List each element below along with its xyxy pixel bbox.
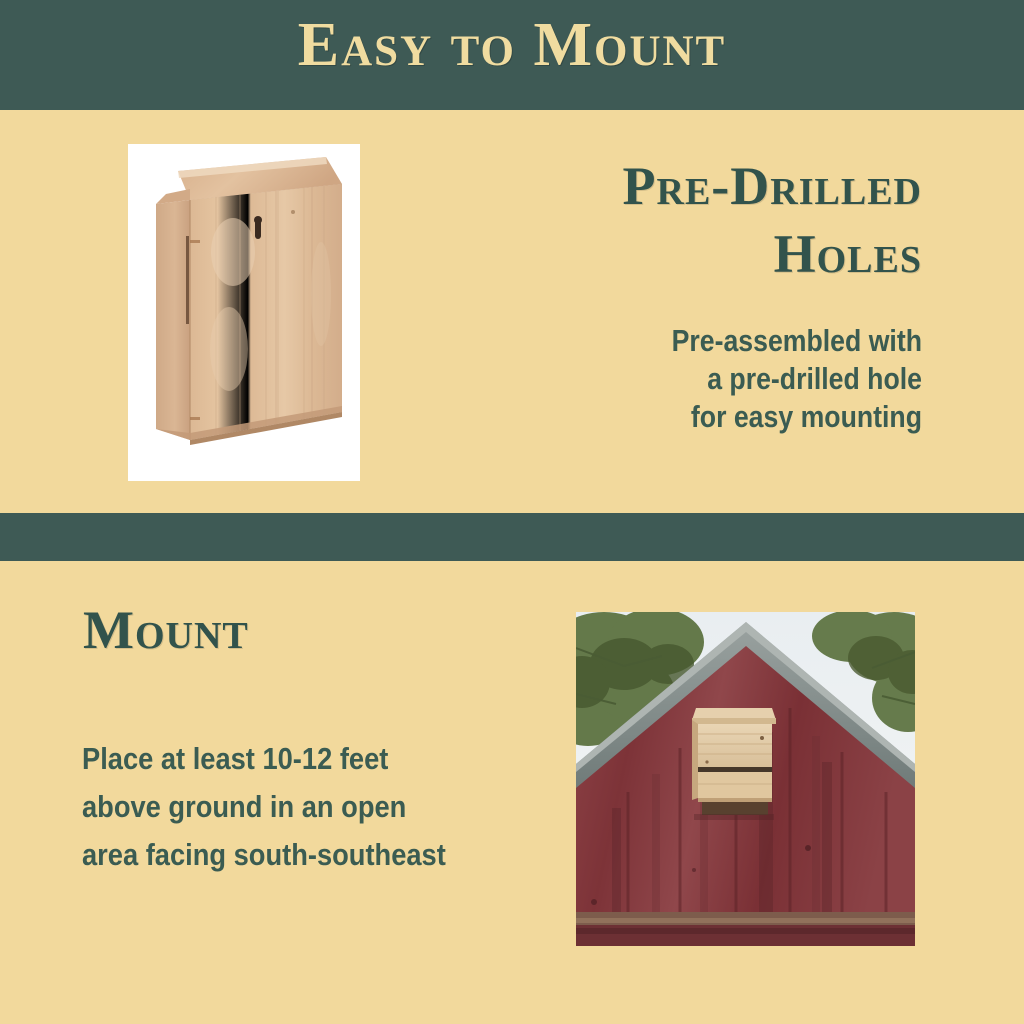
barn-gable-mounted-bat-house-photo [576,612,915,946]
section-1-heading: Pre-Drilled Holes [460,152,922,288]
pre-drilled-keyhole-slot [254,216,262,239]
bat-house-illustration [128,144,360,481]
section-2-body-line: above ground in an open [82,783,496,831]
section-1-body-line: Pre-assembled with [559,322,922,360]
bat-house-product-photo [128,144,360,481]
page-title: Easy to Mount [0,6,1024,84]
section-1-body-line: a pre-drilled hole [559,360,922,398]
section-1-body: Pre-assembled with a pre-drilled hole fo… [559,322,922,436]
section-1-body-line: for easy mounting [559,398,922,436]
section-2-body-line: Place at least 10-12 feet [82,735,496,783]
mounted-bat-house [692,708,776,815]
infographic-page: Easy to Mount [0,0,1024,1024]
section-divider-band [0,513,1024,561]
section-2-body-line: area facing south-southeast [82,831,496,879]
section-2-heading: Mount [83,597,249,663]
barn-gable-illustration [576,612,915,946]
section-2-body: Place at least 10-12 feet above ground i… [82,735,496,879]
